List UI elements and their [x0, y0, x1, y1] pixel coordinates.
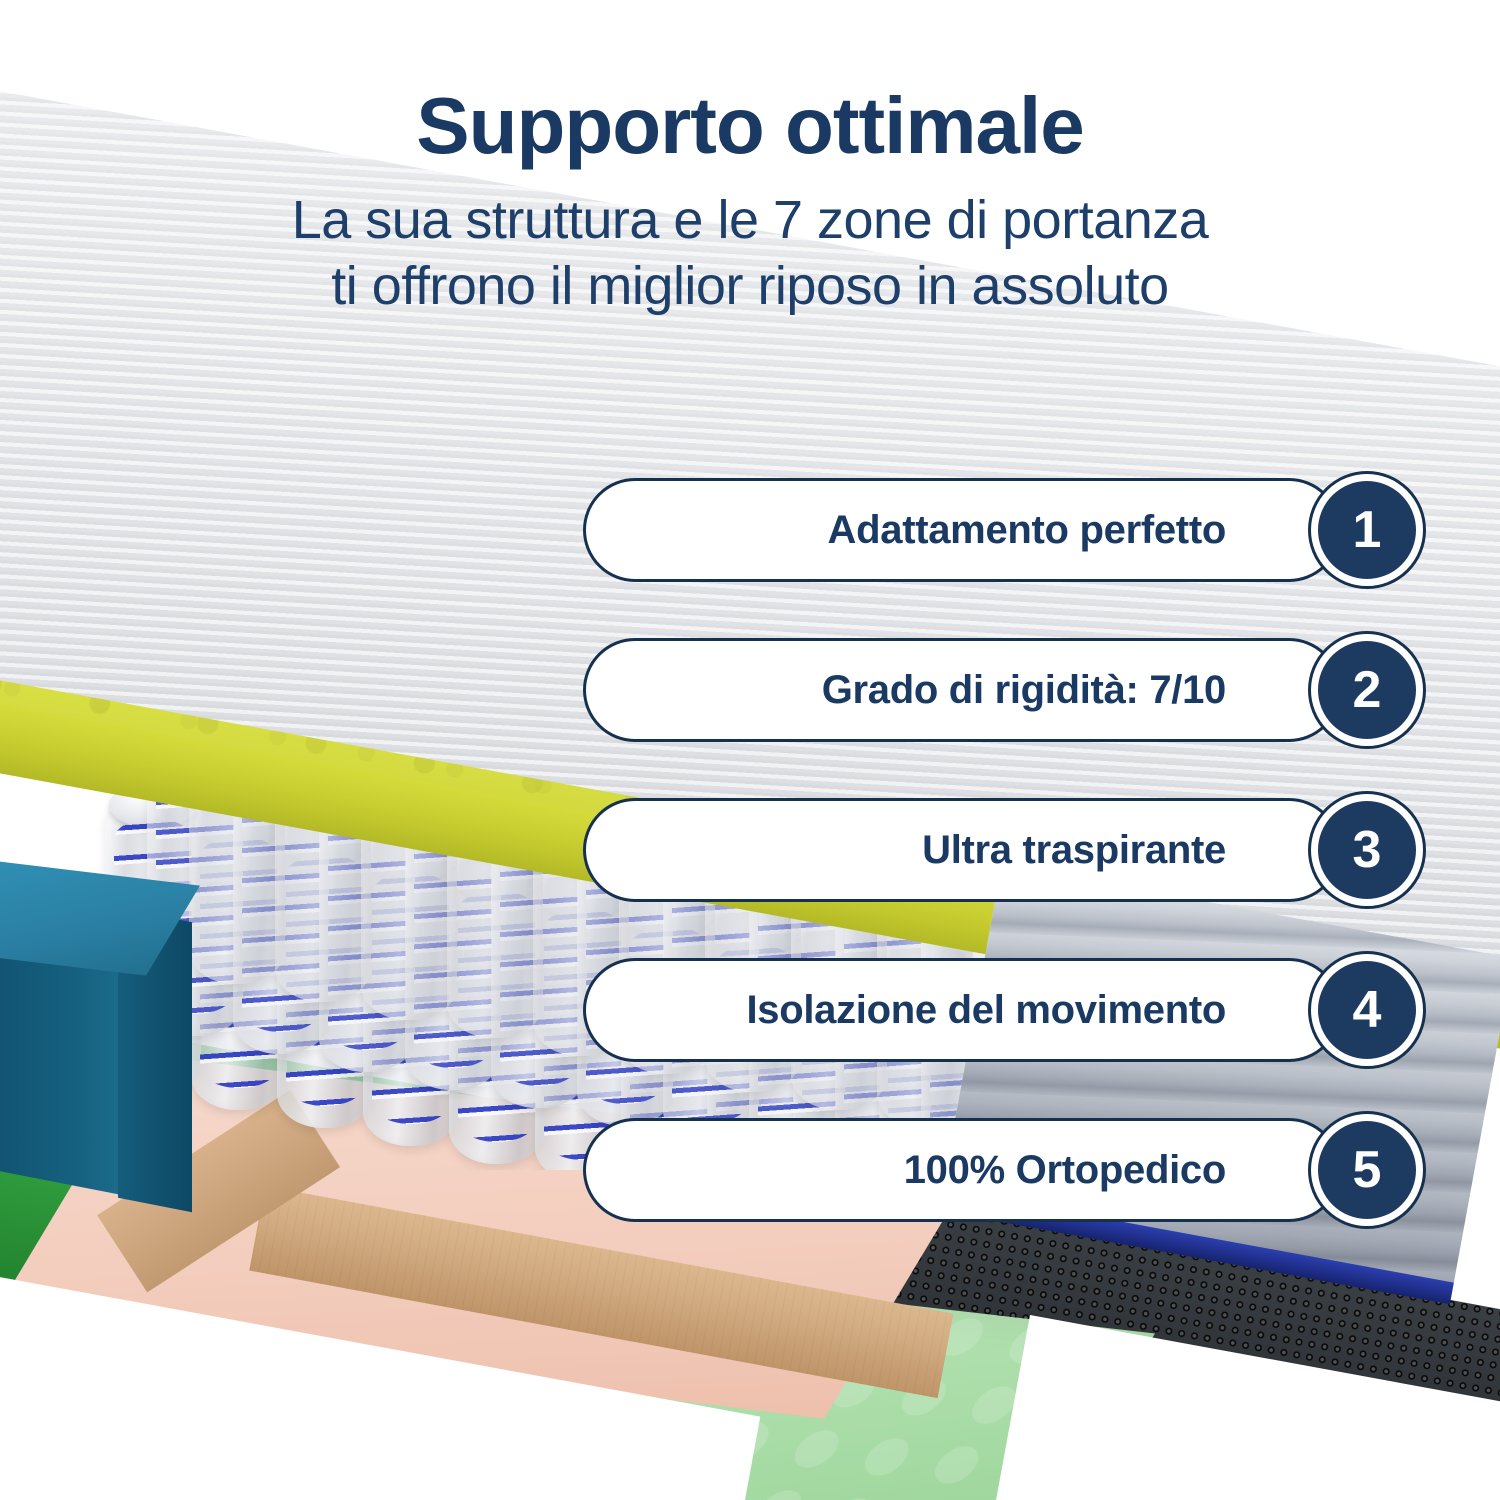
feature-label: Adattamento perfetto: [828, 508, 1226, 553]
infographic-canvas: Supporto ottimale La sua struttura e le …: [0, 0, 1500, 1500]
page-subtitle: La sua struttura e le 7 zone di portanza…: [0, 188, 1500, 320]
feature-label: 100% Ortopedico: [904, 1148, 1226, 1193]
subtitle-line-1: La sua struttura e le 7 zone di portanza: [292, 190, 1209, 250]
feature-pill-3[interactable]: Ultra traspirante 3: [583, 798, 1423, 902]
header-block: Supporto ottimale La sua struttura e le …: [0, 86, 1500, 320]
feature-pill-body[interactable]: Isolazione del movimento: [583, 958, 1341, 1062]
feature-pill-1[interactable]: Adattamento perfetto 1: [583, 478, 1423, 582]
feature-label: Grado di rigidità: 7/10: [822, 668, 1226, 713]
subtitle-line-2: ti offrono il miglior riposo in assoluto: [331, 256, 1168, 316]
feature-pill-body[interactable]: Grado di rigidità: 7/10: [583, 638, 1341, 742]
feature-pill-2[interactable]: Grado di rigidità: 7/10 2: [583, 638, 1423, 742]
feature-number-badge: 3: [1311, 794, 1423, 906]
feature-list: Adattamento perfetto 1 Grado di rigidità…: [583, 478, 1423, 1278]
feature-number-badge: 2: [1311, 634, 1423, 746]
feature-number-badge: 4: [1311, 954, 1423, 1066]
feature-pill-body[interactable]: 100% Ortopedico: [583, 1118, 1341, 1222]
page-title: Supporto ottimale: [0, 86, 1500, 166]
feature-label: Isolazione del movimento: [746, 988, 1226, 1033]
feature-pill-4[interactable]: Isolazione del movimento 4: [583, 958, 1423, 1062]
feature-number-badge: 5: [1311, 1114, 1423, 1226]
feature-number-badge: 1: [1311, 474, 1423, 586]
feature-pill-body[interactable]: Adattamento perfetto: [583, 478, 1341, 582]
feature-pill-body[interactable]: Ultra traspirante: [583, 798, 1341, 902]
feature-pill-5[interactable]: 100% Ortopedico 5: [583, 1118, 1423, 1222]
feature-label: Ultra traspirante: [922, 828, 1226, 873]
